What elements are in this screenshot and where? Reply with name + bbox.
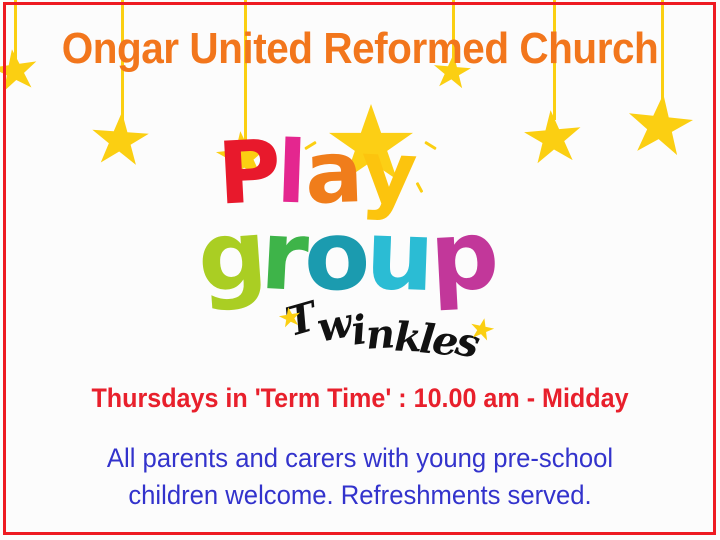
twinkles-letter-n: n [365, 314, 396, 355]
logo-letter-u: u [364, 207, 436, 305]
logo-letter-p2: p [428, 206, 502, 305]
logo-word-group: group [198, 208, 499, 304]
body-copy-line-1: All parents and carers with young pre-sc… [47, 440, 674, 477]
poster-canvas: Ongar United Reformed Church Play group … [0, 0, 720, 540]
logo-letter-o: o [302, 207, 371, 305]
hanging-star-6 [624, 91, 696, 162]
sparkle-ray-right [424, 141, 437, 150]
body-copy: All parents and carers with young pre-sc… [47, 440, 674, 514]
page-title: Ongar United Reformed Church [29, 25, 691, 73]
hanging-star-2 [89, 110, 151, 170]
sparkle-ray-lower-right [416, 182, 424, 193]
schedule-line: Thursdays in 'Term Time' : 10.00 am - Mi… [25, 382, 695, 414]
playgroup-logo: Play group Twinkles [180, 112, 540, 372]
body-copy-line-2: children welcome. Refreshments served. [47, 477, 674, 514]
logo-word-twinkles: Twinkles [286, 298, 485, 338]
